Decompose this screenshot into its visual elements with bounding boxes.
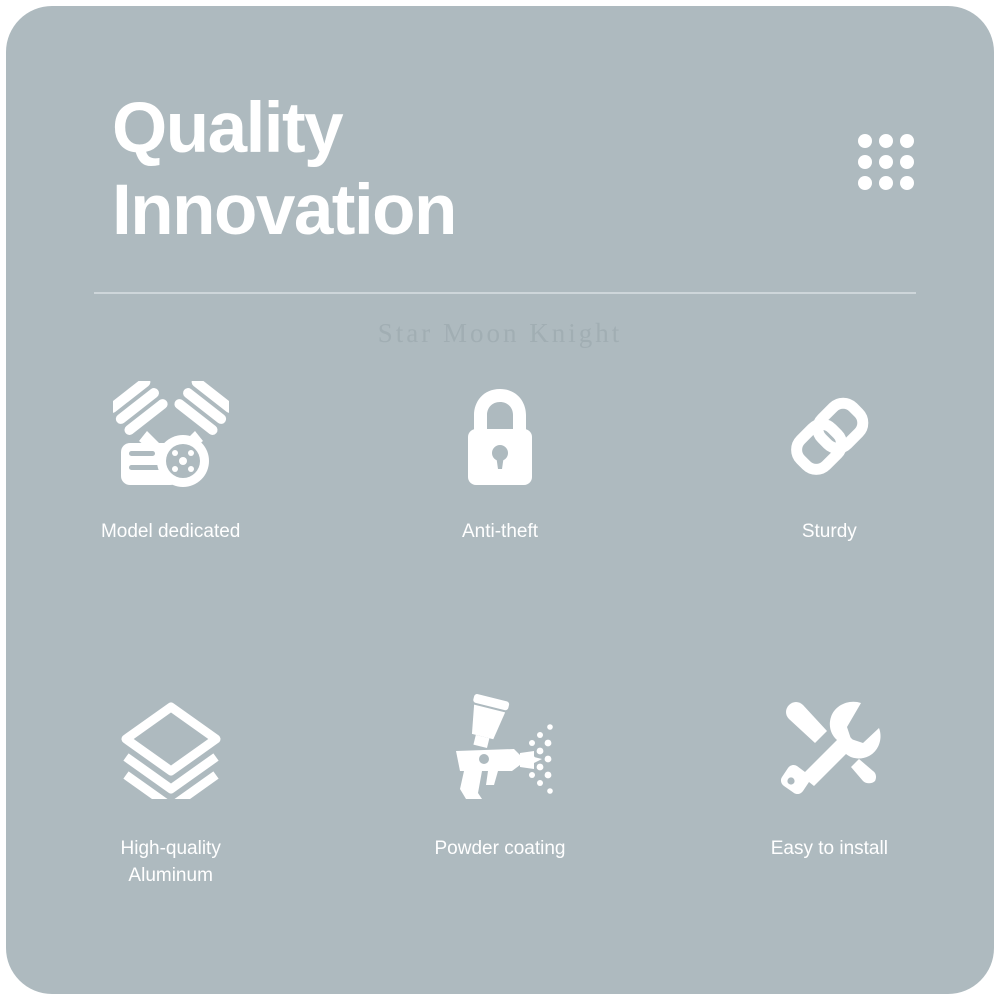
layers-icon — [118, 690, 224, 808]
page-title: Quality Innovation — [112, 88, 732, 252]
dot-grid-dot — [858, 134, 872, 148]
feature-item-anti-theft: Anti-theft — [335, 378, 664, 545]
feature-item-powder-coating: Powder coating — [335, 690, 664, 889]
feature-grid: Model dedicated Anti-theft — [6, 378, 994, 889]
feature-item-model-dedicated: Model dedicated — [6, 378, 335, 545]
dot-grid-icon — [858, 134, 914, 190]
feature-label: Model dedicated — [101, 518, 240, 545]
tools-icon — [777, 690, 881, 808]
feature-label: High-quality Aluminum — [121, 835, 221, 889]
dot-grid-dot — [858, 155, 872, 169]
product-feature-card: Quality Innovation Star Moon Knight — [6, 6, 994, 994]
feature-item-sturdy: Sturdy — [665, 378, 994, 545]
dot-grid-dot — [900, 134, 914, 148]
feature-label: Powder coating — [435, 835, 566, 862]
title-line-2: Innovation — [112, 170, 732, 252]
title-line-1: Quality — [112, 88, 732, 170]
dot-grid-dot — [879, 176, 893, 190]
feature-label: Anti-theft — [462, 518, 538, 545]
dot-grid-dot — [900, 155, 914, 169]
feature-row: High-quality Aluminum — [6, 690, 994, 889]
chain-link-icon — [779, 378, 879, 496]
dot-grid-dot — [879, 155, 893, 169]
spray-gun-icon — [442, 690, 558, 808]
feature-item-high-quality-aluminum: High-quality Aluminum — [6, 690, 335, 889]
dot-grid-dot — [858, 176, 872, 190]
feature-label: Easy to install — [771, 835, 888, 862]
divider — [94, 292, 916, 294]
feature-label: Sturdy — [802, 518, 857, 545]
dot-grid-dot — [900, 176, 914, 190]
watermark-text: Star Moon Knight — [6, 318, 994, 349]
feature-item-easy-to-install: Easy to install — [665, 690, 994, 889]
dot-grid-dot — [879, 134, 893, 148]
engine-icon — [113, 378, 229, 496]
padlock-icon — [461, 378, 539, 496]
feature-row: Model dedicated Anti-theft — [6, 378, 994, 545]
